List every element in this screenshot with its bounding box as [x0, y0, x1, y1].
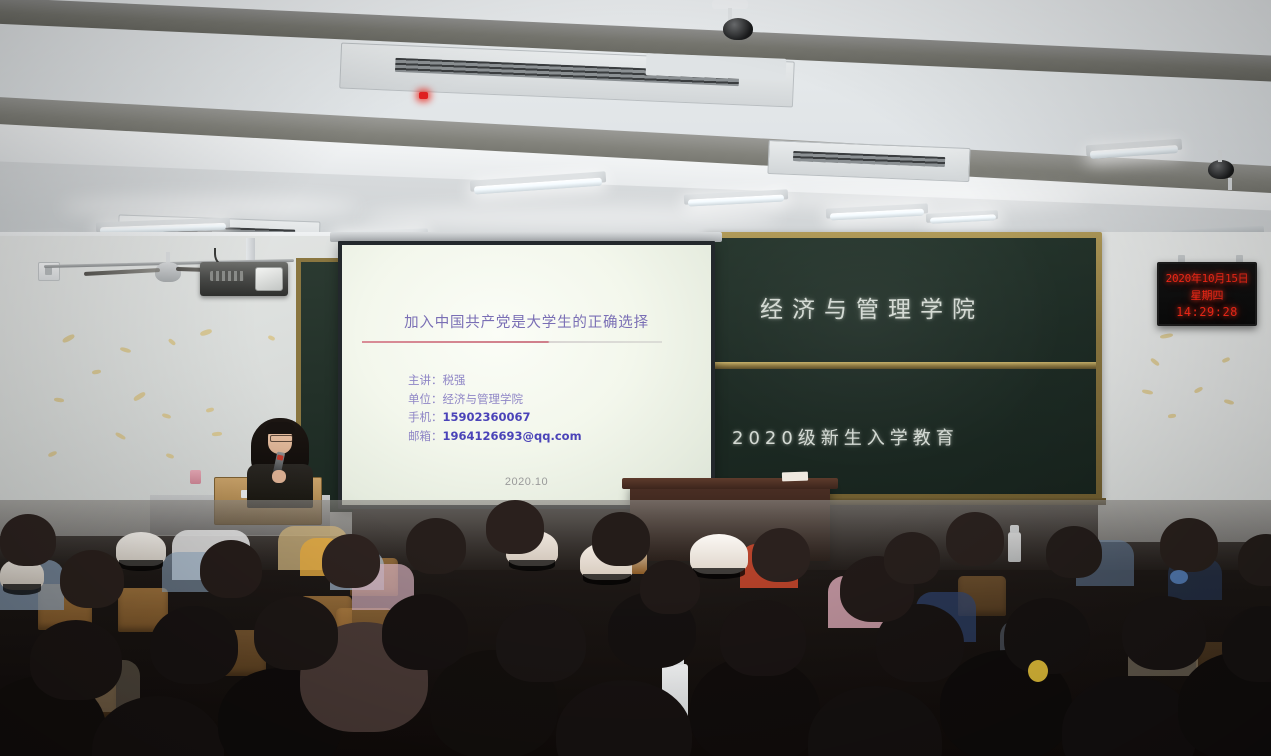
baseball-cap — [116, 532, 166, 566]
slide-label-presenter: 主讲： — [408, 373, 443, 387]
audience — [0, 500, 1271, 756]
blackboard-lower-text: 2020级新生入学教育 — [732, 424, 959, 450]
slide-line-phone: 手机：15902360067 — [408, 408, 582, 427]
led-clock-date: 2020年10月15日 — [1166, 270, 1249, 286]
blackboard-divider — [710, 362, 1096, 369]
audience-head — [1062, 676, 1196, 756]
slide-label-email: 邮箱： — [408, 429, 443, 443]
led-clock-weekday: 星期四 — [1191, 287, 1224, 303]
audience-head — [406, 518, 466, 574]
blackboard-surface: 经济与管理学院 2020级新生入学教育 — [710, 238, 1096, 494]
audience-head — [1046, 526, 1102, 578]
blackboard: 经济与管理学院 2020级新生入学教育 — [704, 232, 1102, 500]
audience-head — [752, 528, 810, 582]
presenter-fringe — [265, 422, 295, 434]
glasses-icon — [270, 435, 293, 442]
slide-accent-rule — [362, 341, 662, 343]
audience-head — [1004, 598, 1090, 674]
slide-value-phone: 15902360067 — [443, 410, 531, 424]
audience-head — [1238, 534, 1271, 586]
slide-body: 主讲：税强 单位：经济与管理学院 手机：15902360067 邮箱：19641… — [408, 371, 582, 445]
audience-head — [1122, 596, 1206, 670]
hair-tie — [1028, 660, 1048, 682]
baseball-cap — [690, 534, 748, 574]
audience-head — [946, 512, 1004, 566]
water-bottle — [1008, 532, 1021, 562]
projection-screen: 加入中国共产党是大学生的正确选择 主讲：税强 单位：经济与管理学院 手机：159… — [338, 241, 715, 509]
audience-head — [0, 514, 56, 566]
presenter-hand — [272, 470, 286, 483]
projector-icon — [200, 262, 288, 296]
audience-head — [60, 550, 124, 608]
slide-line-unit: 单位：经济与管理学院 — [408, 390, 582, 409]
audience-head — [150, 606, 238, 684]
hair-tie — [1170, 570, 1188, 584]
led-clock-time: 14:29:28 — [1176, 305, 1238, 319]
ceiling-glare — [60, 196, 360, 218]
slide-label-unit: 单位： — [408, 392, 443, 406]
audience-head — [200, 540, 262, 598]
audience-head — [592, 512, 650, 566]
led-clock-display: 2020年10月15日 星期四 14:29:28 — [1157, 262, 1257, 326]
audience-head — [808, 686, 942, 756]
slide-line-presenter: 主讲：税强 — [408, 371, 582, 390]
slide-line-email: 邮箱：1964126693@qq.com — [408, 427, 582, 446]
audience-head — [30, 620, 122, 700]
audience-head — [496, 604, 586, 682]
audience-head — [884, 532, 940, 584]
slide-value-unit: 经济与管理学院 — [443, 392, 524, 406]
slide-value-email: 1964126693@qq.com — [443, 429, 582, 443]
audience-head — [1222, 606, 1271, 682]
projector-indicator-light — [419, 92, 428, 99]
projection-screen-surface: 加入中国共产党是大学生的正确选择 主讲：税强 单位：经济与管理学院 手机：159… — [342, 245, 711, 505]
presenter — [243, 414, 317, 494]
dome-camera-stem — [1218, 150, 1222, 162]
lectern-paper — [782, 472, 808, 482]
projector-lens — [255, 267, 283, 291]
dome-camera-icon — [1208, 160, 1234, 179]
slide-label-phone: 手机： — [408, 410, 443, 424]
blackboard-upper-text: 经济与管理学院 — [760, 290, 984, 324]
audience-head — [640, 560, 700, 614]
ceiling-fan-rod — [1228, 178, 1232, 190]
audience-head — [322, 534, 380, 588]
audience-head — [720, 600, 806, 676]
dome-camera-icon — [723, 18, 753, 40]
lecture-hall-photo: 经济与管理学院 2020级新生入学教育 加入中国共产党是大学生的正确选择 主讲：… — [0, 0, 1271, 756]
slide-value-presenter: 税强 — [443, 373, 466, 387]
ceiling-glare — [360, 205, 780, 231]
slide-headline: 加入中国共产党是大学生的正确选择 — [342, 311, 711, 332]
audience-head — [254, 596, 338, 670]
ceiling — [0, 0, 1271, 268]
cup — [190, 470, 201, 484]
audience-head — [382, 594, 468, 670]
ceiling-fan-icon — [155, 262, 181, 282]
audience-head — [486, 500, 544, 554]
audience-head — [1160, 518, 1218, 572]
